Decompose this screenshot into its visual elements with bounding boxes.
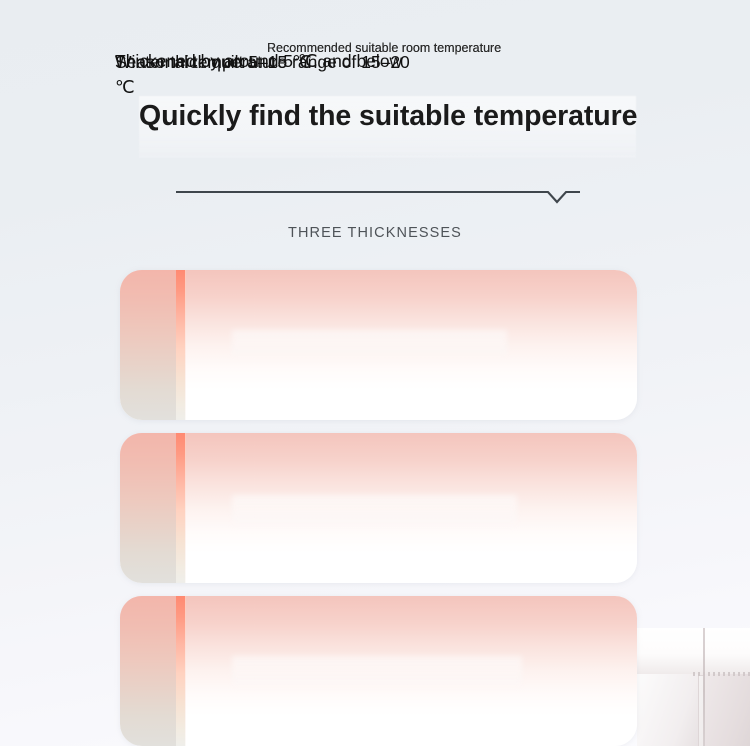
quilt-panel-right <box>704 674 750 746</box>
temperature-card-thickened[interactable] <box>120 596 637 746</box>
chevron-down-notch-icon <box>176 188 580 206</box>
card-text-ghost-band <box>232 495 517 525</box>
card-note-label: Recommended suitable room temperature <box>267 40 501 56</box>
card-accent-stripe <box>176 270 185 420</box>
card-main-text: Winter thick quilt 5–15 ℃ <box>115 50 455 75</box>
section-subtitle: THREE THICKNESSES <box>0 225 750 241</box>
card-panel-divider <box>185 596 186 746</box>
card-surface <box>120 596 637 746</box>
quilt-seam-vertical <box>703 628 705 746</box>
product-photo-quilt <box>637 628 750 746</box>
temperature-card-winter-thick-quilt[interactable] <box>120 433 637 583</box>
card-text-ghost-band <box>232 656 522 686</box>
card-main-text: Seasonal temperature range of 15–20 ℃ <box>115 50 420 100</box>
card-panel-divider <box>185 433 186 583</box>
quilt-stitch-line <box>693 672 750 676</box>
quilt-panel-left <box>637 674 699 746</box>
card-note-label: Recommended suitable room temperature <box>267 40 501 56</box>
card-surface <box>120 270 637 420</box>
card-note-label: Recommended suitable room temperature <box>267 40 501 56</box>
card-main-text: Thickened by around 5 ℃ and below <box>115 49 515 74</box>
quilt-panel-top <box>637 628 750 676</box>
card-accent-stripe <box>176 433 185 583</box>
card-accent-stripe <box>176 596 185 746</box>
section-divider <box>176 188 580 206</box>
card-panel-divider <box>185 270 186 420</box>
card-text-ghost-band <box>232 330 507 356</box>
card-surface <box>120 433 637 583</box>
temperature-card-seasonal[interactable] <box>120 270 637 420</box>
page-title: Quickly find the suitable temperature <box>139 96 659 136</box>
